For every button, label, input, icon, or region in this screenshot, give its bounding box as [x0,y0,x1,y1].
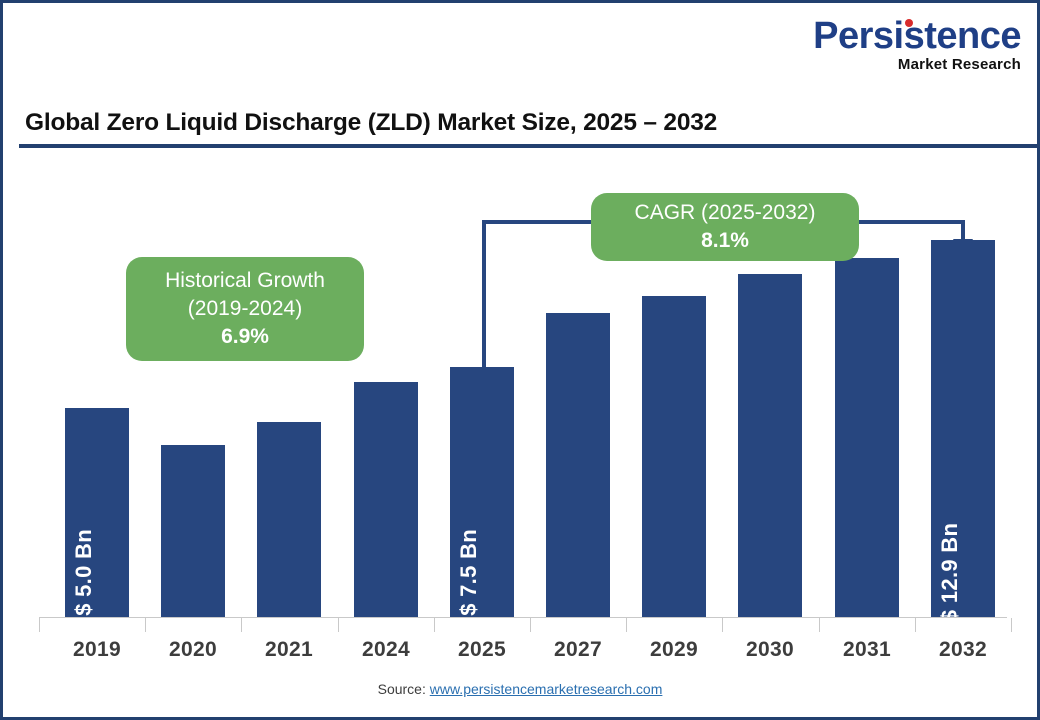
callout-cagr-value: 8.1% [701,227,749,255]
x-axis-tick [530,618,531,632]
callout-historical-value: 6.9% [221,323,269,351]
x-axis-tick [39,618,40,632]
x-axis-tick [819,618,820,632]
page-title: Global Zero Liquid Discharge (ZLD) Marke… [25,109,717,137]
x-axis-tick [241,618,242,632]
bar-value-label-2025: US$ 7.5 Bn [456,529,482,647]
x-axis-label-2024: 2024 [338,638,434,662]
bar-2024[interactable] [354,382,418,618]
logo-tagline: Market Research [801,57,1021,72]
callout-historical-line1: Historical Growth [165,267,325,295]
x-axis-label-2027: 2027 [530,638,626,662]
x-axis-label-2029: 2029 [626,638,722,662]
x-axis-label-2020: 2020 [145,638,241,662]
title-divider [19,144,1037,148]
chart-page: Persistence Market Research Global Zero … [0,0,1040,720]
bar-2019[interactable]: US$ 5.0 Bn [65,408,129,618]
x-axis-label-2030: 2030 [722,638,818,662]
chart-plot-area: US$ 5.0 Bn US$ 7.5 Bn US$ 12.9 Bn [3,153,1037,713]
logo-wordmark: Persistence [813,17,1021,55]
x-axis-tick [434,618,435,632]
bar-2025[interactable]: US$ 7.5 Bn [450,367,514,618]
bar-2021[interactable] [257,422,321,618]
source-prefix: Source: [378,681,430,697]
x-axis-tick [145,618,146,632]
source-line: Source: www.persistencemarketresearch.co… [3,681,1037,697]
bar-value-label-2032: US$ 12.9 Bn [937,523,963,653]
callout-cagr: CAGR (2025-2032) 8.1% [591,193,859,261]
x-axis-tick [915,618,916,632]
x-axis-label-2019: 2019 [49,638,145,662]
x-axis-tick [1011,618,1012,632]
bar-2030[interactable] [738,274,802,618]
bar-value-label-2019: US$ 5.0 Bn [71,529,97,647]
logo-wordmark-text: Persistence [813,15,1021,57]
x-axis-line [39,617,1007,618]
callout-historical-growth: Historical Growth (2019-2024) 6.9% [126,257,364,361]
callout-cagr-line1: CAGR (2025-2032) [635,199,816,227]
x-axis-tick [626,618,627,632]
x-axis-tick [722,618,723,632]
bar-2020[interactable] [161,445,225,618]
bar-2027[interactable] [546,313,610,618]
bar-2029[interactable] [642,296,706,618]
x-axis-label-2031: 2031 [819,638,915,662]
callout-historical-line2: (2019-2024) [188,295,302,323]
source-url-link[interactable]: www.persistencemarketresearch.com [430,681,663,697]
x-axis-tick [338,618,339,632]
x-axis-label-2021: 2021 [241,638,337,662]
bar-2031[interactable] [835,258,899,618]
bar-2032[interactable]: US$ 12.9 Bn [931,240,995,618]
company-logo: Persistence Market Research [801,17,1021,72]
x-axis-label-2032: 2032 [915,638,1011,662]
x-axis-label-2025: 2025 [434,638,530,662]
